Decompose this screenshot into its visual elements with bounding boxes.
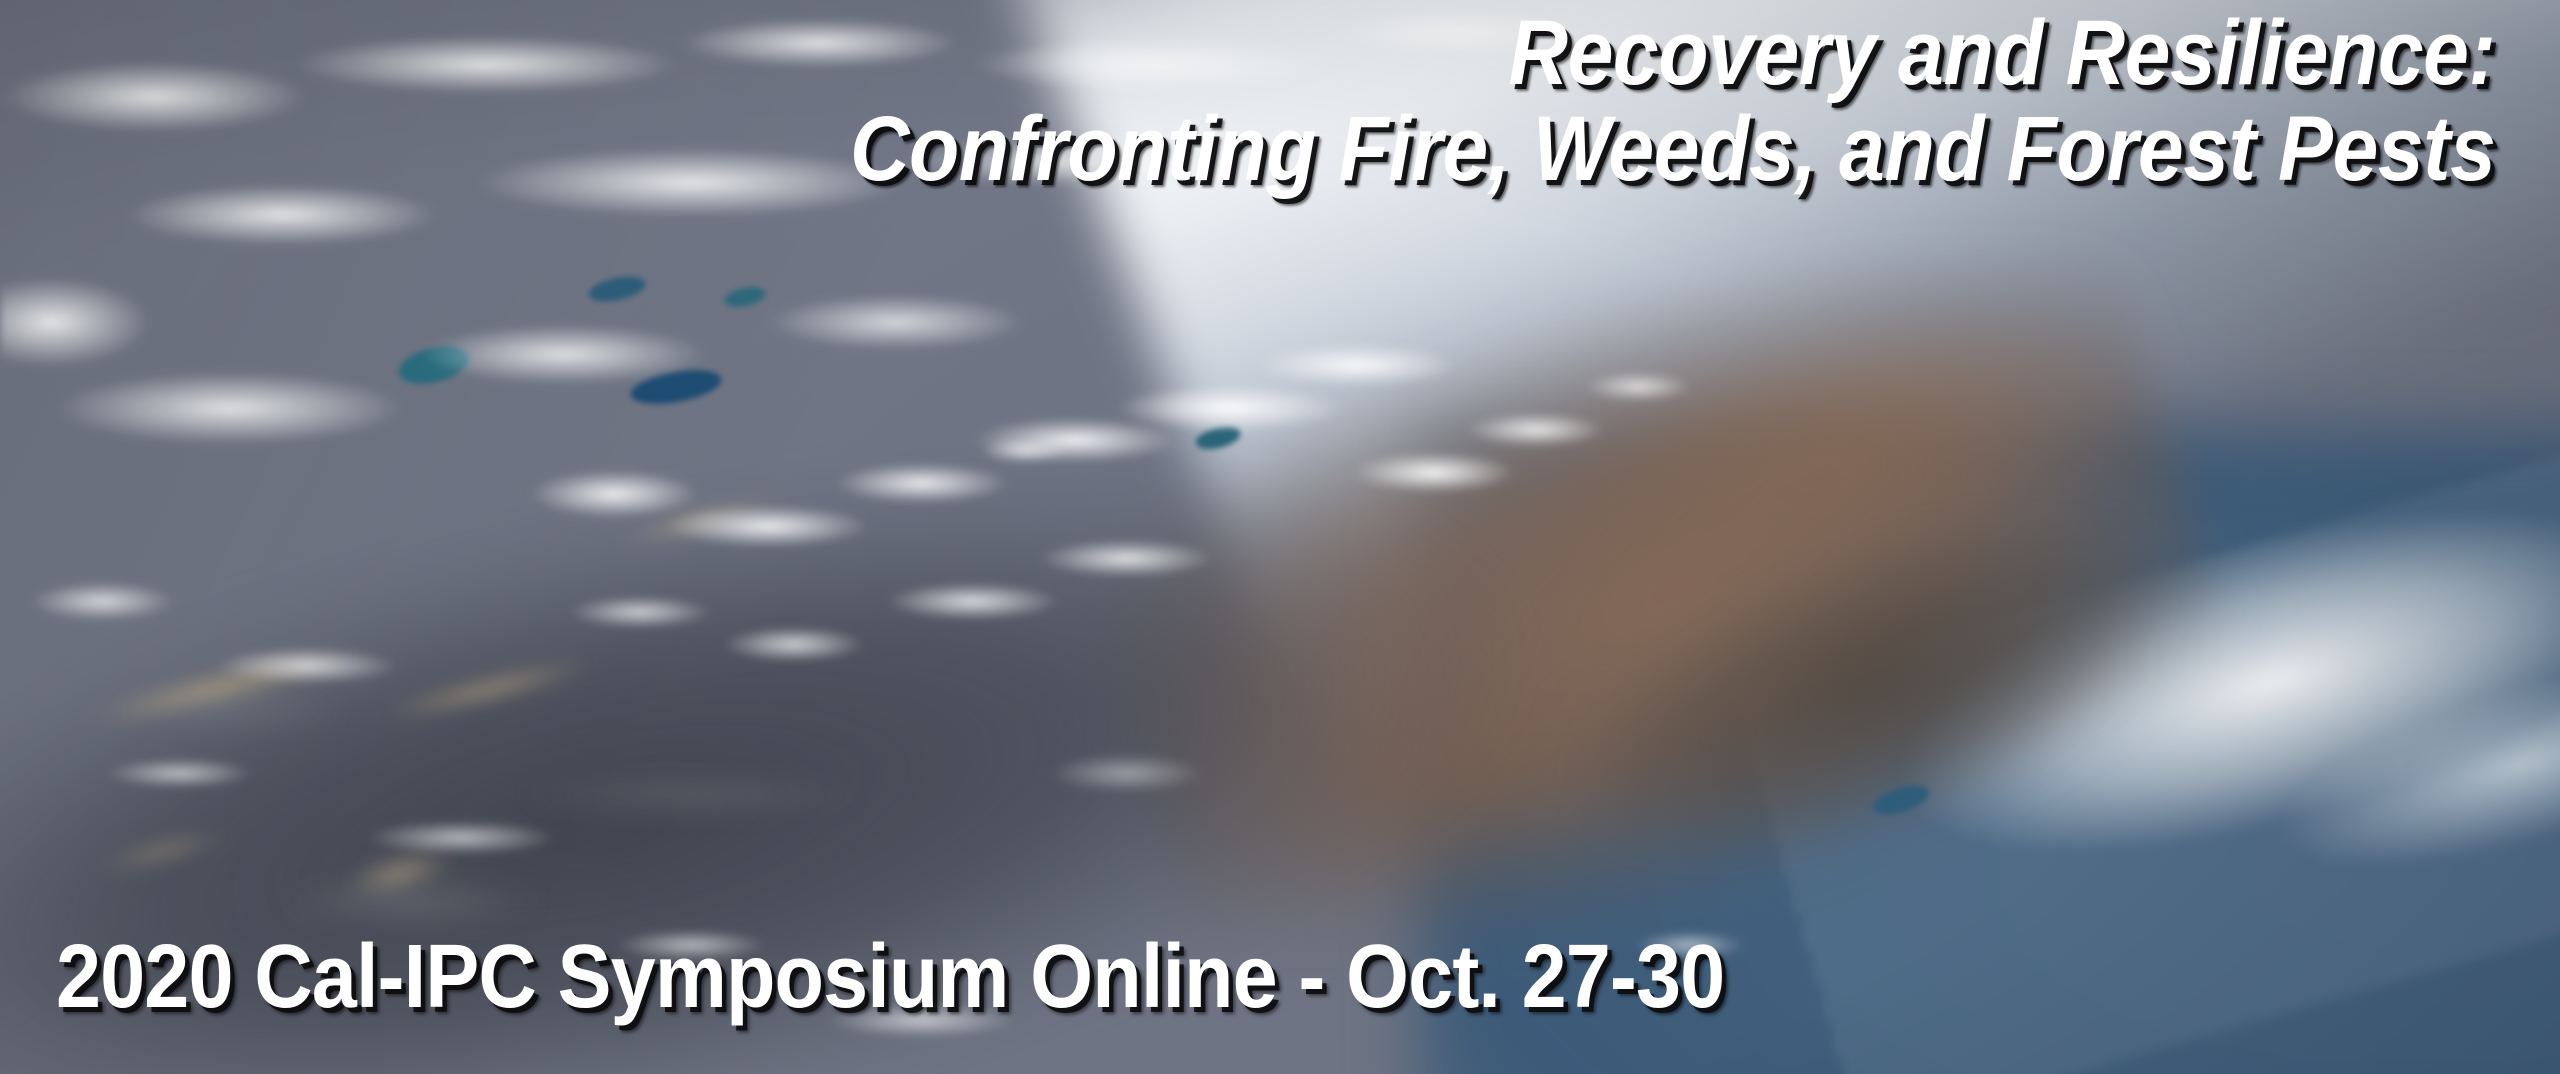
title-line-2: Confronting Fire, Weeds, and Forest Pest… <box>851 102 2496 198</box>
symposium-banner: Recovery and Resilience: Confronting Fir… <box>0 0 2560 1074</box>
title-line-1: Recovery and Resilience: <box>851 6 2496 102</box>
event-details: 2020 Cal-IPC Symposium Online - Oct. 27-… <box>56 932 1724 1022</box>
banner-title: Recovery and Resilience: Confronting Fir… <box>657 6 2496 197</box>
